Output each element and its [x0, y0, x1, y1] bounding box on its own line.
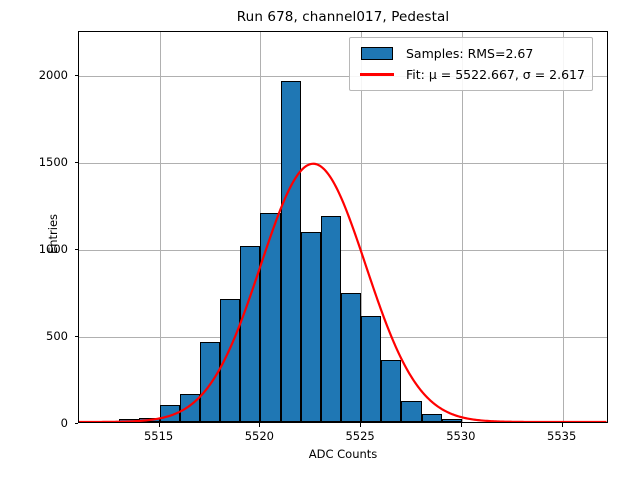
x-tick-label: 5525 — [345, 429, 374, 443]
x-tick-mark — [159, 423, 160, 427]
x-axis-label: ADC Counts — [78, 447, 608, 461]
y-tick-label: 0 — [61, 416, 68, 430]
y-tick-mark — [75, 249, 79, 250]
legend-bar-patch-icon — [357, 46, 397, 62]
legend-label-fit: Fit: μ = 5522.667, σ = 2.617 — [406, 67, 585, 82]
x-tick-label: 5515 — [144, 429, 173, 443]
y-axis-label: Entries — [46, 174, 60, 294]
legend-line-swatch-icon — [357, 67, 397, 83]
x-axis-ticks: 55155520552555305535 — [78, 423, 608, 447]
y-tick-mark — [75, 75, 79, 76]
chart-title: Run 678, channel017, Pedestal — [78, 9, 608, 25]
y-tick-mark — [75, 336, 79, 337]
figure-canvas: Run 678, channel017, Pedestal 5515552055… — [0, 0, 640, 480]
legend-box: Samples: RMS=2.67 Fit: μ = 5522.667, σ =… — [349, 37, 593, 91]
y-tick-mark — [75, 423, 79, 424]
y-tick-mark — [75, 162, 79, 163]
legend-item-fit: Fit: μ = 5522.667, σ = 2.617 — [357, 64, 585, 85]
y-tick-label: 500 — [46, 329, 68, 343]
x-tick-mark — [259, 423, 260, 427]
legend-label-samples: Samples: RMS=2.67 — [406, 46, 533, 61]
x-tick-mark — [461, 423, 462, 427]
x-tick-label: 5520 — [245, 429, 274, 443]
x-tick-label: 5530 — [446, 429, 475, 443]
y-axis-ticks: 0500100015002000 — [0, 31, 78, 423]
legend-item-samples: Samples: RMS=2.67 — [357, 43, 585, 64]
y-tick-label: 1500 — [39, 155, 68, 169]
x-tick-mark — [562, 423, 563, 427]
x-tick-mark — [360, 423, 361, 427]
x-tick-label: 5535 — [547, 429, 576, 443]
y-tick-label: 2000 — [39, 68, 68, 82]
